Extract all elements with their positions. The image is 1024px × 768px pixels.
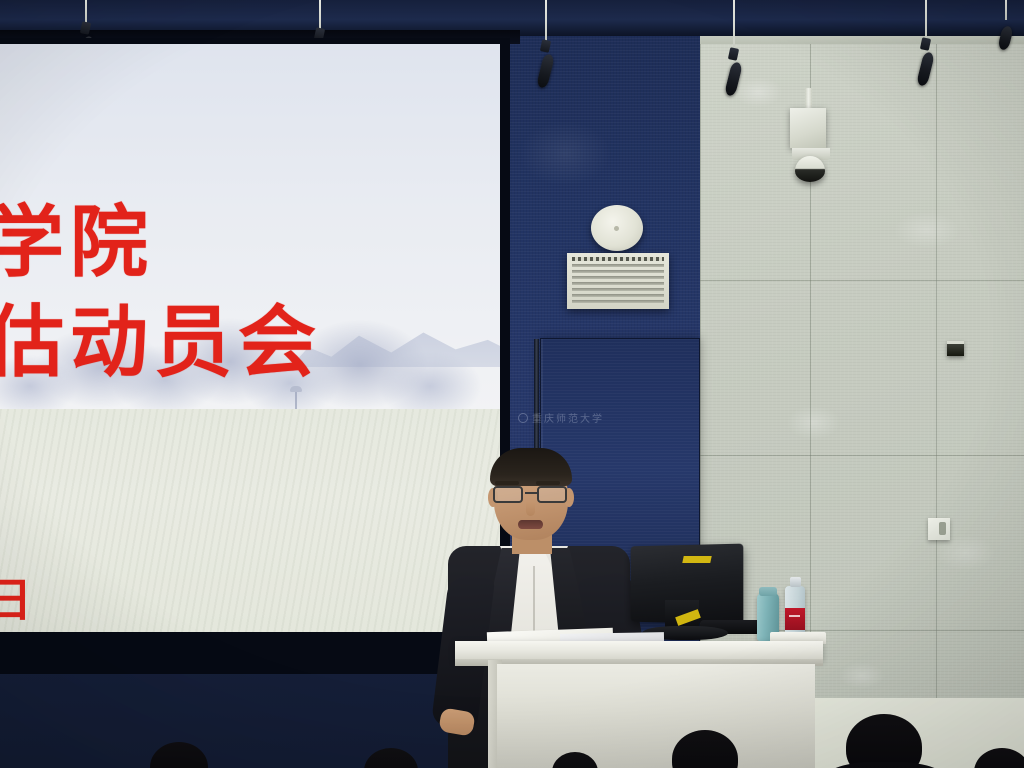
slide-title-line-1: 学院 — [0, 198, 154, 288]
monitor-sticker — [682, 556, 711, 563]
dome-camera-icon — [795, 156, 825, 182]
bottle-cap — [790, 577, 801, 587]
bottle-label — [785, 608, 805, 630]
lecture-hall-scene: 学院 估动员会 日 重庆师范大学 — [0, 0, 1024, 768]
presenter-mouth — [518, 520, 543, 529]
wall-sensor-icon — [947, 341, 964, 356]
presenter-eyebrow-left — [495, 481, 519, 485]
podium-body — [497, 664, 815, 768]
slide-title: 学院 估动员会 — [0, 194, 322, 394]
slide-date: 日 — [0, 564, 36, 630]
power-socket-icon[interactable] — [928, 518, 950, 540]
projection-screen: 学院 估动员会 日 — [0, 44, 500, 632]
air-vent-icon — [567, 253, 669, 309]
slide-lawn — [0, 409, 500, 632]
presenter-eyebrow-right — [536, 481, 560, 485]
slide-title-line-2: 估动员会 — [0, 294, 322, 394]
eyeglasses-icon — [490, 486, 572, 503]
wall-seam — [700, 455, 1024, 456]
presenter-nose — [526, 502, 535, 516]
camera-junction-box — [790, 108, 826, 148]
podium-desktop — [455, 641, 823, 661]
wall-seam — [936, 0, 937, 768]
wall-seam — [700, 280, 1024, 281]
smoke-detector-icon — [591, 205, 643, 251]
